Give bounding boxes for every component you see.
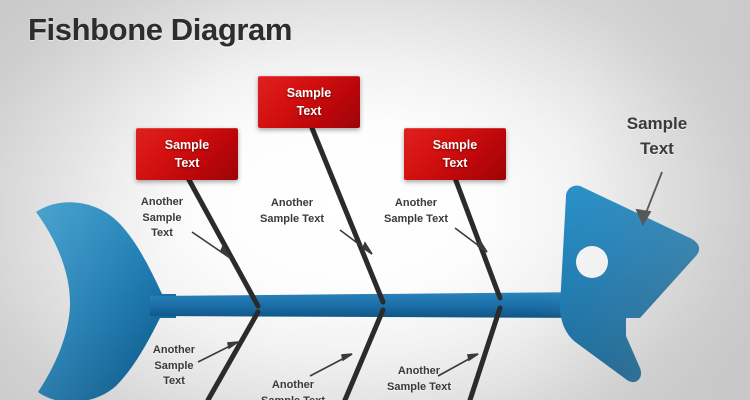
lower-label-2-line1: Another	[250, 378, 336, 394]
lower-label-3-line2: Sample Text	[376, 380, 462, 396]
upper-label-3: Another Sample Text	[373, 196, 459, 227]
cause-box-2-line1: Sample	[287, 84, 331, 102]
upper-label-3-line2: Sample Text	[373, 212, 459, 228]
effect-label: Sample Text	[614, 112, 700, 161]
lower-label-3: Another Sample Text	[376, 364, 462, 395]
fishbone-diagram-slide: Fishbone Diagram	[0, 0, 750, 400]
upper-label-1-line2: Sample	[132, 211, 192, 227]
lower-label-1: Another Sample Text	[143, 343, 205, 390]
lower-label-3-line1: Another	[376, 364, 462, 380]
effect-label-line2: Text	[614, 137, 700, 162]
upper-label-1: Another Sample Text	[132, 195, 192, 242]
cause-box-3-line1: Sample	[433, 136, 477, 154]
lower-label-1-line3: Text	[143, 374, 205, 390]
upper-label-2-line2: Sample Text	[249, 212, 335, 228]
lower-label-2-line2: Sample Text	[250, 394, 336, 400]
cause-box-3-line2: Text	[443, 154, 468, 172]
effect-label-line1: Sample	[614, 112, 700, 137]
upper-label-1-line3: Text	[132, 226, 192, 242]
lower-label-1-line1: Another	[143, 343, 205, 359]
cause-box-2[interactable]: Sample Text	[258, 76, 360, 128]
cause-box-3[interactable]: Sample Text	[404, 128, 506, 180]
upper-label-1-line1: Another	[132, 195, 192, 211]
cause-box-2-line2: Text	[297, 102, 322, 120]
page-title: Fishbone Diagram	[28, 12, 292, 48]
upper-label-2: Another Sample Text	[249, 196, 335, 227]
upper-label-2-line1: Another	[249, 196, 335, 212]
upper-label-3-line1: Another	[373, 196, 459, 212]
lower-label-2: Another Sample Text	[250, 378, 336, 400]
fish-spine	[150, 292, 598, 318]
cause-box-1-line1: Sample	[165, 136, 209, 154]
effect-arrow	[637, 172, 662, 224]
fish-eye	[576, 246, 608, 278]
fish-head	[560, 186, 699, 382]
lower-label-1-line2: Sample	[143, 359, 205, 375]
cause-box-1-line2: Text	[175, 154, 200, 172]
pointer-arrows-upper	[192, 228, 487, 258]
cause-box-1[interactable]: Sample Text	[136, 128, 238, 180]
